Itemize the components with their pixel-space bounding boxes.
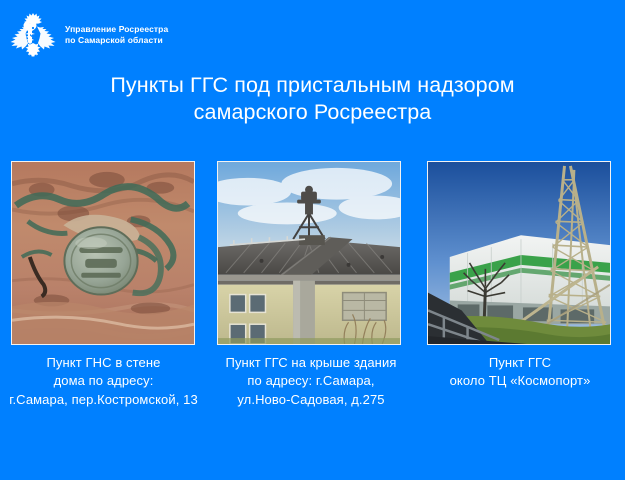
organization-name-line-1: Управление Росреестра [65,24,168,35]
caption-2-line-3: ул.Ново-Садовая, д.275 [205,391,417,409]
caption-1-line-2: дома по адресу: [2,372,205,390]
caption-1-line-1: Пункт ГНС в стене [2,354,205,372]
organization-logo: Управление Росреестра по Самарской облас… [8,10,168,60]
photo-captions: Пункт ГНС в стене дома по адресу: г.Сама… [0,354,625,414]
organization-name-line-2: по Самарской области [65,35,168,46]
photo-tower-kosmoport [427,161,611,345]
caption-2-line-2: по адресу: г.Самара, [205,372,417,390]
slide-root: Управление Росреестра по Самарской облас… [0,0,625,480]
slide-title-line-1: Пункты ГГС под пристальным надзором [30,72,595,99]
caption-2-line-1: Пункт ГГС на крыше здания [205,354,417,372]
caption-3-line-1: Пункт ГГС [420,354,620,372]
rosreestr-eagle-icon [8,10,58,60]
caption-photo-3: Пункт ГГС около ТЦ «Космопорт» [420,354,620,391]
caption-1-line-3: г.Самара, пер.Костромской, 13 [2,391,205,409]
photo-roof-signal [217,161,401,345]
photo-gallery [0,161,625,345]
slide-title: Пункты ГГС под пристальным надзором сама… [30,72,595,127]
organization-name: Управление Росреестра по Самарской облас… [65,24,168,47]
caption-3-line-2: около ТЦ «Космопорт» [420,372,620,390]
slide-title-line-2: самарского Росреестра [30,99,595,126]
caption-photo-2: Пункт ГГС на крыше здания по адресу: г.С… [205,354,417,409]
caption-photo-1: Пункт ГНС в стене дома по адресу: г.Сама… [2,354,205,409]
photo-wall-marker [11,161,195,345]
